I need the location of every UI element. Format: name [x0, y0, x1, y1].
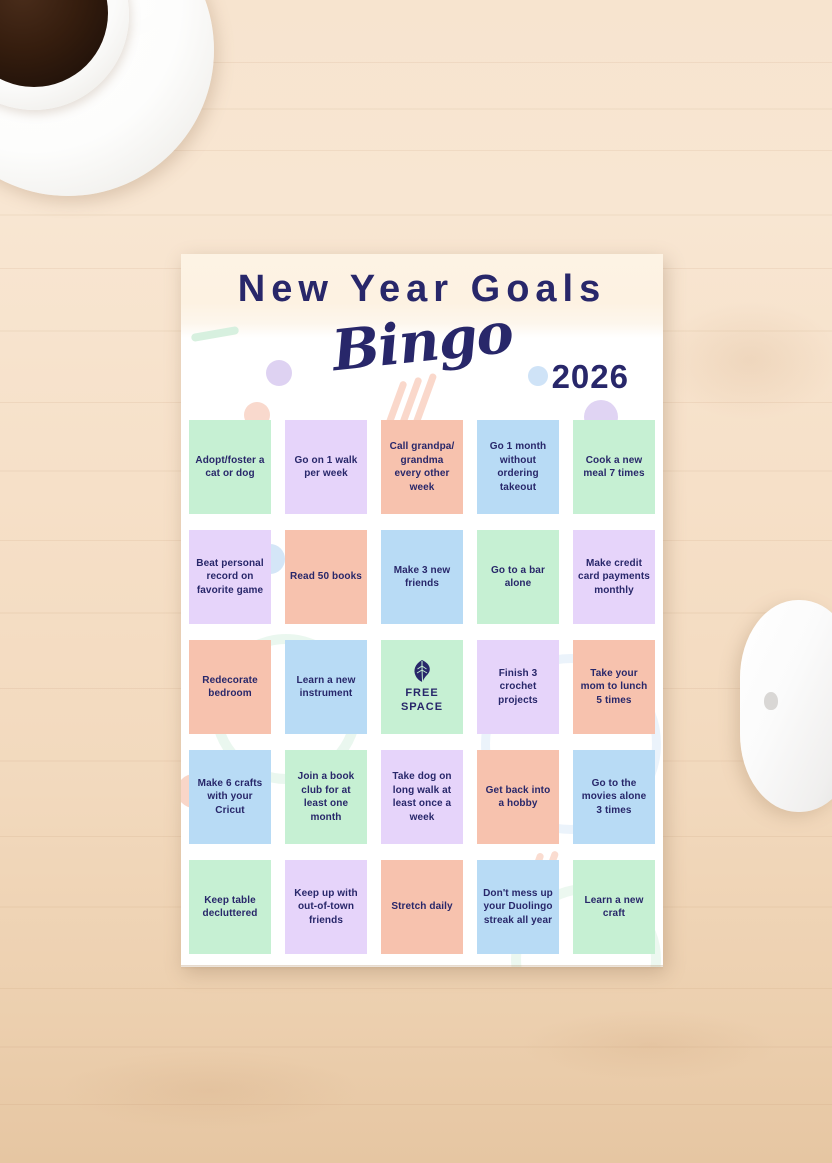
bingo-cell[interactable]: Beat personal record on favorite game: [189, 530, 271, 624]
bingo-cell[interactable]: Keep up with out-of-town friends: [285, 860, 367, 954]
poster-bottom-edge: [181, 965, 663, 970]
bingo-poster: New Year Goals Bingo 2026 Adopt/foster a…: [181, 254, 663, 967]
bingo-cell-label: Redecorate bedroom: [194, 674, 266, 701]
bingo-cell-label: FREE SPACE: [401, 687, 443, 715]
bingo-cell[interactable]: Make credit card payments monthly: [573, 530, 655, 624]
bingo-cell-label: Read 50 books: [290, 570, 362, 584]
bingo-cell[interactable]: Cook a new meal 7 times: [573, 420, 655, 514]
mouse-logo: [764, 692, 778, 710]
bingo-cell[interactable]: Make 3 new friends: [381, 530, 463, 624]
bingo-cell-label: Keep up with out-of-town friends: [290, 887, 362, 928]
bingo-cell-label: Go to the movies alone 3 times: [578, 777, 650, 818]
bingo-cell-label: Learn a new instrument: [290, 674, 362, 701]
leaf-icon: [412, 659, 432, 683]
bingo-cell[interactable]: Go to a bar alone: [477, 530, 559, 624]
bingo-cell[interactable]: Redecorate bedroom: [189, 640, 271, 734]
bingo-cell-label: Cook a new meal 7 times: [578, 454, 650, 481]
bingo-cell-label: Go to a bar alone: [482, 564, 554, 591]
bingo-cell-label: Stretch daily: [391, 900, 452, 914]
bingo-cell[interactable]: Adopt/foster a cat or dog: [189, 420, 271, 514]
bingo-cell[interactable]: Keep table decluttered: [189, 860, 271, 954]
bingo-cell[interactable]: Make 6 crafts with your Cricut: [189, 750, 271, 844]
bingo-cell[interactable]: Stretch daily: [381, 860, 463, 954]
bingo-cell-label: Adopt/foster a cat or dog: [194, 454, 266, 481]
bingo-cell[interactable]: Take dog on long walk at least once a we…: [381, 750, 463, 844]
bingo-cell-label: Take dog on long walk at least once a we…: [386, 770, 458, 824]
page-title: New Year Goals: [181, 270, 663, 308]
bingo-cell[interactable]: Learn a new instrument: [285, 640, 367, 734]
bingo-cell-label: Don't mess up your Duolingo streak all y…: [482, 887, 554, 928]
bingo-cell[interactable]: Go 1 month without ordering takeout: [477, 420, 559, 514]
bingo-cell[interactable]: Join a book club for at least one month: [285, 750, 367, 844]
bingo-cell[interactable]: Go on 1 walk per week: [285, 420, 367, 514]
bingo-cell[interactable]: Get back into a hobby: [477, 750, 559, 844]
bingo-cell-label: Make 3 new friends: [386, 564, 458, 591]
bingo-cell-label: Finish 3 crochet projects: [482, 667, 554, 708]
bingo-cell-label: Go 1 month without ordering takeout: [482, 440, 554, 494]
bingo-cell[interactable]: Go to the movies alone 3 times: [573, 750, 655, 844]
title-block: New Year Goals Bingo: [181, 270, 663, 370]
bingo-cell-label: Get back into a hobby: [482, 784, 554, 811]
bingo-cell-label: Join a book club for at least one month: [290, 770, 362, 824]
bingo-cell[interactable]: Finish 3 crochet projects: [477, 640, 559, 734]
bingo-cell-label: Keep table decluttered: [194, 894, 266, 921]
bingo-cell[interactable]: Read 50 books: [285, 530, 367, 624]
bingo-cell-label: Beat personal record on favorite game: [194, 557, 266, 598]
bingo-cell-label: Go on 1 walk per week: [290, 454, 362, 481]
bingo-cell-label: Call grandpa/ grandma every other week: [386, 440, 458, 494]
bingo-grid: Adopt/foster a cat or dogGo on 1 walk pe…: [189, 420, 655, 954]
bingo-cell-label: Take your mom to lunch 5 times: [578, 667, 650, 708]
computer-mouse: [740, 600, 832, 812]
bingo-cell[interactable]: Learn a new craft: [573, 860, 655, 954]
bingo-cell-label: Make 6 crafts with your Cricut: [194, 777, 266, 818]
bingo-cell-free-space[interactable]: FREE SPACE: [381, 640, 463, 734]
bingo-cell-label: Learn a new craft: [578, 894, 650, 921]
bingo-cell[interactable]: Call grandpa/ grandma every other week: [381, 420, 463, 514]
year-label: 2026: [181, 358, 629, 396]
bingo-cell-label: Make credit card payments monthly: [578, 557, 650, 598]
bingo-cell[interactable]: Take your mom to lunch 5 times: [573, 640, 655, 734]
bingo-cell[interactable]: Don't mess up your Duolingo streak all y…: [477, 860, 559, 954]
